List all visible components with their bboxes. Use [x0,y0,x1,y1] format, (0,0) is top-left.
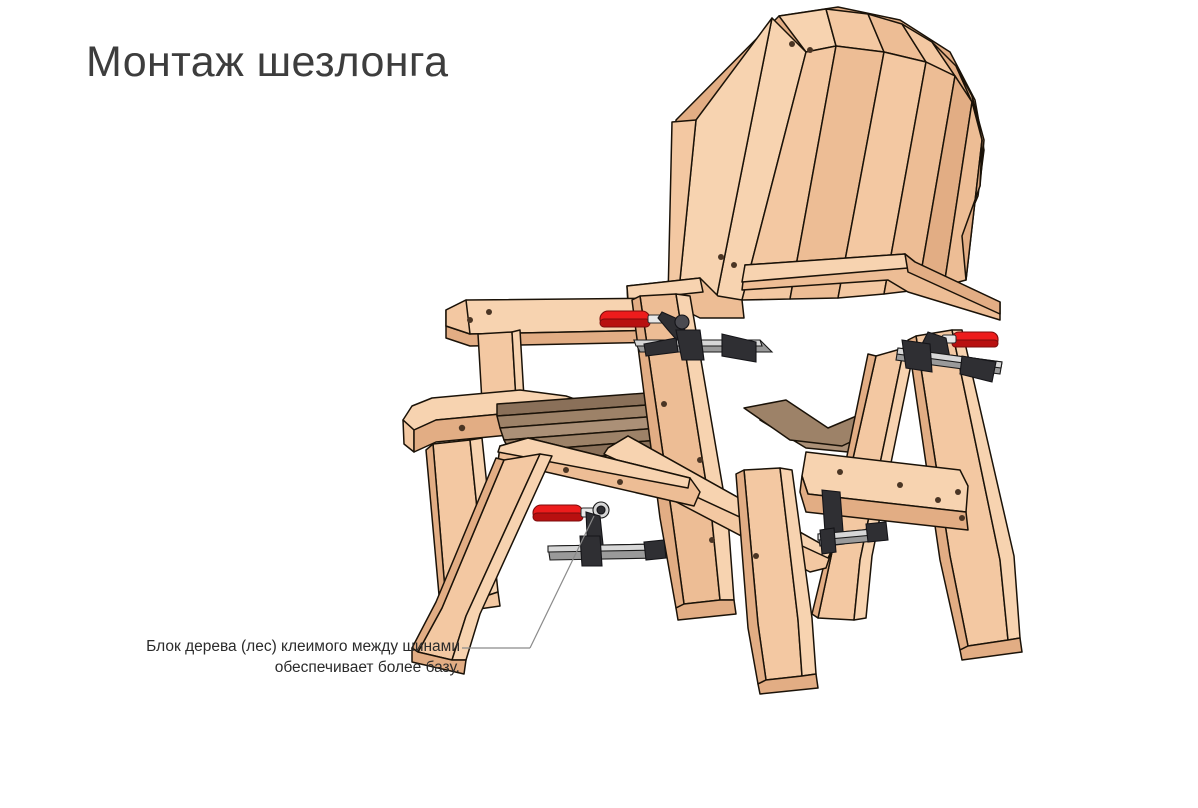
annotation-caption-line2: обеспечивает более базу. [70,657,460,678]
annotation-caption-line1: Блок дерева (лес) клеимого между шинами [70,636,460,657]
annotation-caption: Блок дерева (лес) клеимого между шинами … [70,636,460,678]
clamp-lower-left [533,502,666,566]
page-title: Монтаж шезлонга [86,38,448,87]
illustration-page: .o { stroke:#1a1208; stroke-width:1.5; s… [0,0,1198,808]
chair-assembly-illustration: .o { stroke:#1a1208; stroke-width:1.5; s… [0,0,1198,808]
